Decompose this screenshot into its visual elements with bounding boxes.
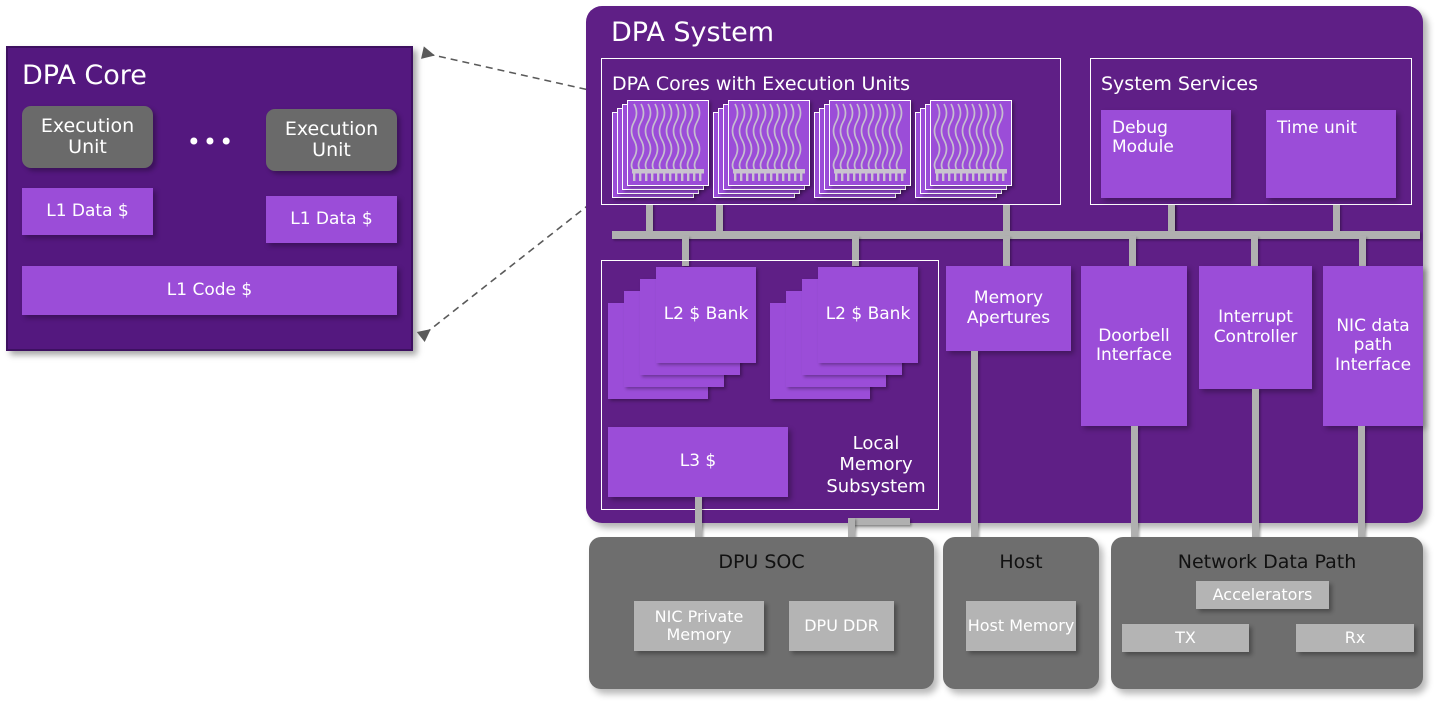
dpu-soc-panel: DPU SOC NIC Private Memory DPU DDR	[589, 537, 934, 689]
l2-bank-front-2: L2 $ Bank	[818, 267, 918, 363]
dpa-core-stack-3	[814, 100, 910, 200]
dpa-core-panel: DPA Core Execution Unit ••• Execution Un…	[6, 46, 413, 351]
execution-unit-1: Execution Unit	[22, 106, 153, 168]
l1-data-cache-2: L1 Data $	[266, 196, 397, 243]
local-memory-subsystem-label: Local Memory Subsystem	[820, 425, 932, 505]
host-title: Host	[943, 551, 1099, 573]
nic-datapath-interface-box: NIC data path Interface	[1323, 266, 1423, 426]
execution-unit-2: Execution Unit	[266, 109, 397, 171]
time-unit-box: Time unit	[1266, 110, 1396, 198]
core-sheet-front	[930, 100, 1012, 186]
core-comb	[733, 167, 805, 180]
debug-module-box: Debug Module	[1101, 110, 1231, 198]
doorbell-interface-box: Doorbell Interface	[1081, 266, 1187, 426]
core-stub-1	[646, 204, 653, 234]
l2-bank-front-1: L2 $ Bank	[656, 267, 756, 363]
rx-box: Rx	[1296, 624, 1414, 652]
l1-code-cache: L1 Code $	[22, 266, 397, 315]
interrupt-controller-box: Interrupt Controller	[1199, 266, 1312, 389]
bus-drop-doorbell	[1129, 236, 1136, 266]
core-stub-3	[1003, 204, 1010, 234]
detail-arrow-bottom	[422, 196, 600, 336]
bus-drop-interrupt	[1251, 236, 1258, 266]
dpu-soc-title: DPU SOC	[589, 551, 934, 573]
wire-interrupt-to-network	[1252, 389, 1259, 541]
dpu-ddr-box: DPU DDR	[789, 601, 894, 651]
service-stub-time	[1333, 204, 1340, 234]
system-services-title: System Services	[1101, 73, 1258, 95]
l2-bank-stack-2: L2 $ Bank	[770, 267, 920, 402]
host-panel: Host Host Memory	[943, 537, 1099, 689]
tx-box: TX	[1122, 624, 1249, 652]
core-comb	[632, 167, 704, 180]
dpa-core-title: DPA Core	[22, 60, 147, 91]
bus-drop-nic-datapath	[1359, 236, 1366, 266]
network-data-path-panel: Network Data Path Accelerators TX Rx	[1111, 537, 1423, 689]
bus-drop-memory-apertures	[1003, 236, 1010, 266]
detail-arrow-top	[424, 53, 598, 92]
l3-cache-box: L3 $	[608, 427, 788, 497]
dpa-system-title: DPA System	[611, 17, 774, 48]
dpa-core-stack-4	[915, 100, 1011, 200]
service-stub-debug	[1168, 204, 1175, 234]
core-sheet-front	[627, 100, 709, 186]
host-memory-box: Host Memory	[966, 601, 1076, 651]
core-stub-2	[716, 204, 723, 234]
core-sheet-front	[728, 100, 810, 186]
l1-data-cache-1: L1 Data $	[22, 188, 153, 235]
network-data-path-title: Network Data Path	[1111, 551, 1423, 573]
dpa-core-stack-2	[713, 100, 809, 200]
wire-lms-to-dpu-ddr-horizontal	[848, 518, 910, 525]
dpa-core-stack-1	[612, 100, 708, 200]
core-comb	[834, 167, 906, 180]
core-sheet-front	[829, 100, 911, 186]
core-comb	[935, 167, 1007, 180]
system-bus	[612, 231, 1420, 239]
nic-private-memory-box: NIC Private Memory	[634, 601, 764, 651]
l2-bank-stack-1: L2 $ Bank	[608, 267, 758, 402]
memory-apertures-box: Memory Apertures	[946, 266, 1071, 351]
accelerators-box: Accelerators	[1196, 581, 1329, 609]
dpa-cores-group-title: DPA Cores with Execution Units	[612, 73, 910, 95]
ellipsis-label: •••	[188, 130, 234, 154]
